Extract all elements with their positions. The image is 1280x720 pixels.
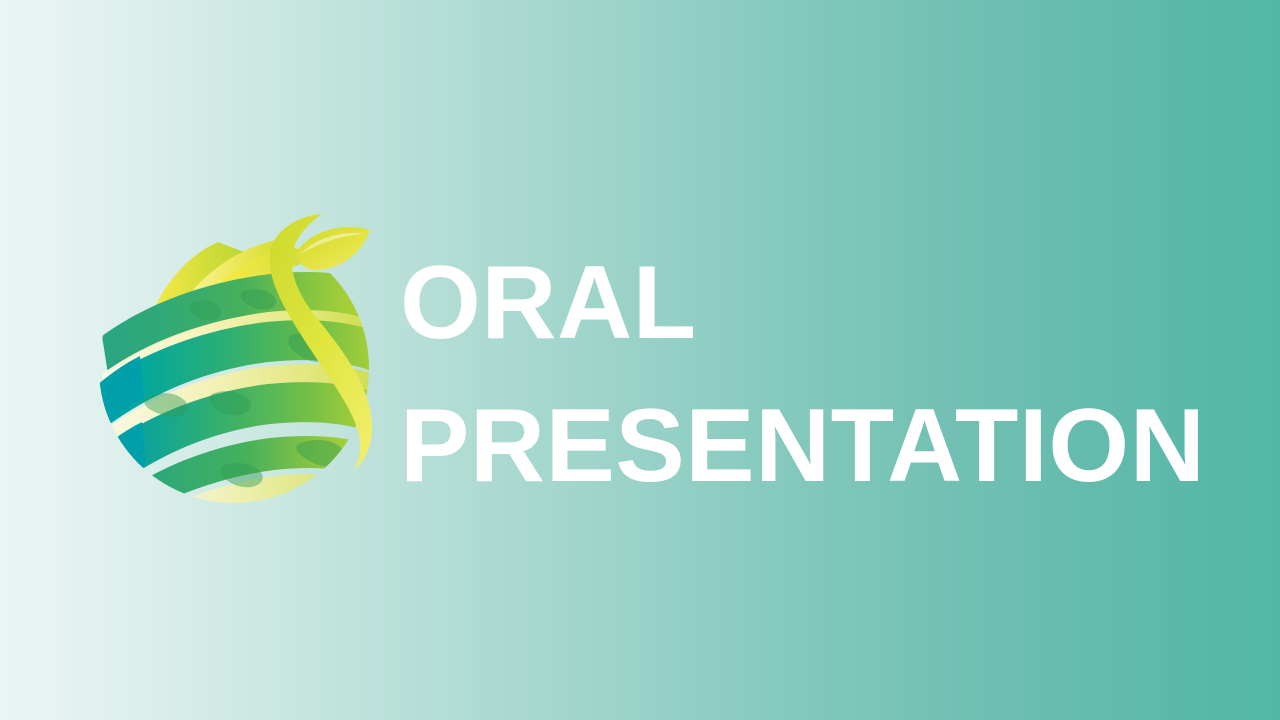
headline-line-2: PRESENTATION [400,375,1260,518]
globe-ribbon-leaf-logo [94,208,380,512]
presentation-slide: ORAL PRESENTATION [0,0,1280,720]
globe-body [96,214,376,546]
page-title: ORAL PRESENTATION [400,232,1260,518]
headline-line-1: ORAL [400,232,1260,375]
